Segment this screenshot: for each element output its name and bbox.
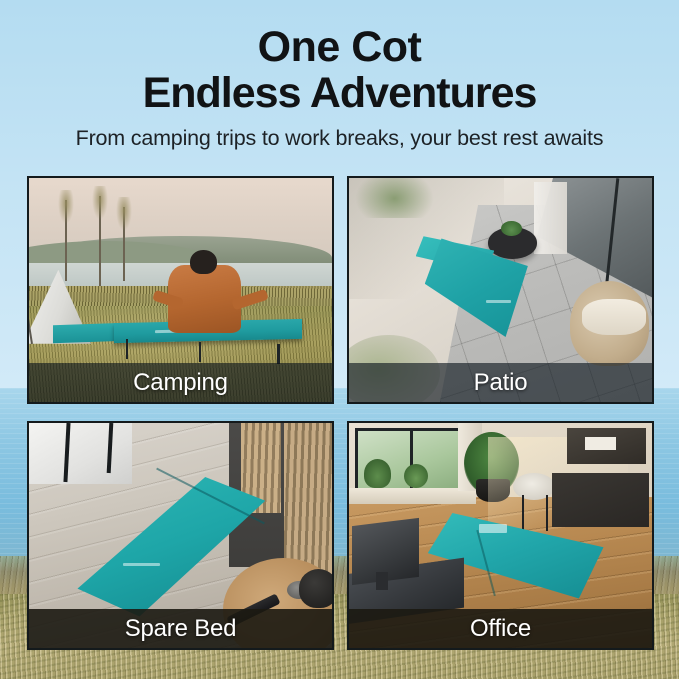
office-stool-leg [522,495,524,531]
cot-brand-logo [123,563,161,566]
camping-tree [99,196,101,286]
title-line-2: Endless Adventures [0,70,679,116]
patio-foliage-top [355,176,434,218]
title-line-1: One Cot [258,23,422,71]
panel-label-spare-bed: Spare Bed [29,609,332,648]
spare-bed-window [29,423,132,484]
page-title: One Cot Endless Adventures [0,0,679,117]
product-infographic: One Cot Endless Adventures From camping … [0,0,679,679]
header: One Cot Endless Adventures From camping … [0,0,679,151]
panel-label-office: Office [349,609,652,648]
camping-person-head [190,250,217,275]
camping-tree [123,207,125,281]
camping-cot-leg [126,339,129,359]
panel-camping[interactable]: Camping [27,176,334,404]
camping-tree [65,200,67,281]
spare-bed-vase [299,569,334,607]
panel-spare-bed[interactable]: Spare Bed [27,421,334,650]
panel-label-patio: Patio [349,363,652,402]
cot-brand-logo [486,300,511,303]
panel-label-camping: Camping [29,363,332,402]
office-plant-small [364,459,391,488]
office-stool-leg [546,495,548,531]
patio-curtain [534,182,567,254]
spare-bed-slat-panel [284,423,332,581]
patio-chair-cushion [582,299,646,335]
office-desk [552,473,649,527]
panel-patio[interactable]: Patio [347,176,654,404]
office-stool [513,473,555,500]
cot-brand-logo [479,524,506,533]
page-subtitle: From camping trips to work breaks, your … [0,126,679,151]
camping-cot-leg [277,344,280,364]
office-monitor-stand [376,572,388,590]
patio-potted-plant [501,221,522,237]
office-plant-small [404,464,428,489]
office-papers [585,437,615,451]
panel-office[interactable]: Office [347,421,654,650]
use-case-grid: Camping Patio [27,176,654,650]
office-window-sill [349,488,476,504]
camping-cot-leg [199,342,202,362]
